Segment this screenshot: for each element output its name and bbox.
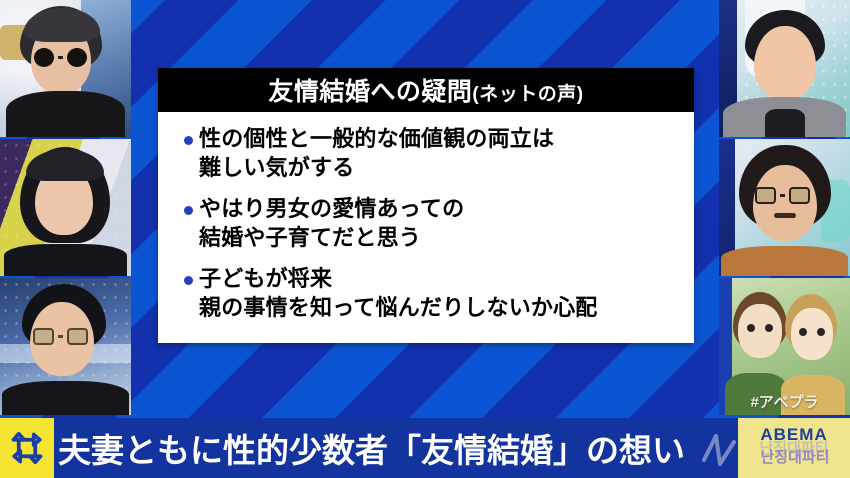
bullet-line-2: 難しい気がする <box>199 154 554 183</box>
mustache <box>774 213 796 218</box>
participant-woman-bob <box>0 139 131 276</box>
bullet-line-1: 子どもが将来 <box>199 266 332 291</box>
participant-man-glasses-suit <box>0 278 131 415</box>
sunglasses-icon <box>34 48 87 67</box>
list-item: やはり男女の愛情あっての 結婚や子育てだと思う <box>184 195 676 252</box>
bullet-text: 子どもが将来 親の事情を知って悩んだりしないか心配 <box>199 265 598 322</box>
bullet-dot-icon <box>184 206 193 215</box>
broadcast-screen: #アベプラ 友情結婚への疑問(ネットの声) 性の個性と一般的な価値観の両立は 難… <box>0 0 850 478</box>
hashtag-label: #アベプラ <box>719 391 850 412</box>
participant-man-mustache-glasses <box>719 139 850 276</box>
bullet-line-1: 性の個性と一般的な価値観の両立は <box>199 126 554 151</box>
caption-title-main: 友情結婚への疑問 <box>268 78 472 106</box>
eyeglasses-icon <box>755 187 810 204</box>
caption-title: 友情結婚への疑問(ネットの声) <box>268 72 583 108</box>
list-item: 子どもが将来 親の事情を知って悩んだりしないか心配 <box>184 265 676 322</box>
caption-card-body: 性の個性と一般的な価値観の両立は 難しい気がする やはり男女の愛情あっての 結婚… <box>158 112 694 343</box>
bullet-text: やはり男女の愛情あっての 結婚や子育てだと思う <box>199 195 464 252</box>
illustration-couple: #アベプラ <box>719 278 850 415</box>
caption-card: 友情結婚への疑問(ネットの声) 性の個性と一般的な価値観の両立は 難しい気がする… <box>158 68 694 343</box>
bullet-text: 性の個性と一般的な価値観の両立は 難しい気がする <box>199 125 554 182</box>
caption-title-sub: (ネットの声) <box>472 84 583 105</box>
korean-watermark: 난징대파티 <box>740 446 850 467</box>
bullet-dot-icon <box>184 276 193 285</box>
bullet-line-2: 親の事情を知って悩んだりしないか心配 <box>199 294 598 323</box>
caption-card-header: 友情結婚への疑問(ネットの声) <box>158 68 694 112</box>
participant-sunglasses-man <box>0 0 131 137</box>
banner-headline: 夫妻ともに性的少数者「友情結婚」の想い <box>58 418 685 478</box>
bullet-line-1: やはり男女の愛情あっての <box>199 196 464 221</box>
participant-man-grey-blazer <box>719 0 850 137</box>
bullet-dot-icon <box>184 136 193 145</box>
eyeglasses-icon <box>33 328 88 345</box>
recycle-arrows-icon <box>0 418 54 478</box>
bullet-line-2: 結婚や子育てだと思う <box>199 224 464 253</box>
list-item: 性の個性と一般的な価値観の両立は 難しい気がする <box>184 125 676 182</box>
